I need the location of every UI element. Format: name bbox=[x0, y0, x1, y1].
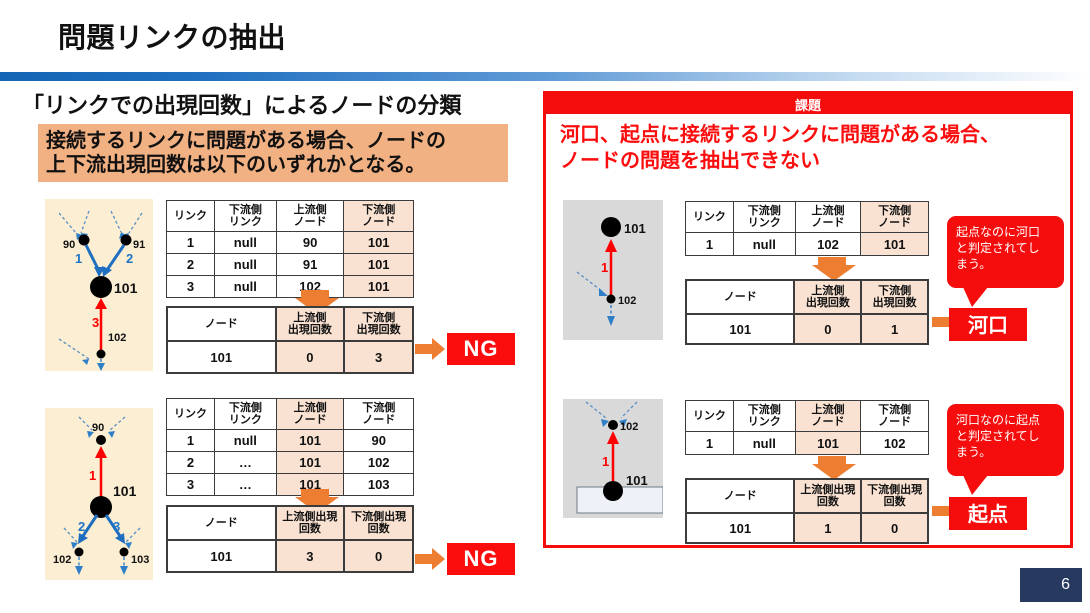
cell-ds-node: 102 bbox=[861, 432, 929, 455]
cell-node-id: 101 bbox=[167, 341, 276, 373]
table-row: 101 0 1 bbox=[686, 314, 928, 344]
cell-ds-link: … bbox=[214, 474, 276, 496]
th-node: ノード bbox=[686, 280, 794, 314]
svg-text:103: 103 bbox=[131, 554, 149, 566]
cell-ds-link: null bbox=[214, 232, 276, 254]
cell-ds-link: null bbox=[214, 254, 276, 276]
th-node: ノード bbox=[686, 479, 794, 513]
left-callout-line1: 接続するリンクに問題がある場合、ノードの bbox=[46, 129, 446, 153]
table-row: 1 null 101 90 bbox=[167, 430, 414, 452]
th-downstream-link: 下流側リンク bbox=[214, 399, 276, 430]
left-section-heading: 「リンクでの出現回数」によるノードの分類 bbox=[22, 88, 461, 120]
th-downstream-link: 下流側リンク bbox=[733, 401, 795, 432]
table-row: 101 0 3 bbox=[167, 341, 413, 373]
cell-us-count: 0 bbox=[276, 341, 345, 373]
bubble-line2: と判定されてし bbox=[956, 428, 1055, 444]
cell-link: 3 bbox=[167, 276, 215, 298]
cell-link: 1 bbox=[686, 432, 734, 455]
svg-text:102: 102 bbox=[53, 554, 71, 566]
svg-text:90: 90 bbox=[63, 239, 75, 251]
table-row: 101 1 0 bbox=[686, 513, 928, 543]
table-header-row: ノード 上流側出現回数 下流側出現回数 bbox=[167, 307, 413, 341]
cell-ds-node: 101 bbox=[861, 233, 929, 256]
left-case1-node-table: ノード 上流側出現回数 下流側出現回数 101 0 3 bbox=[166, 306, 414, 374]
th-upstream-count: 上流側出現回数 bbox=[276, 307, 345, 341]
th-upstream-node: 上流側ノード bbox=[795, 401, 861, 432]
cell-ds-node: 101 bbox=[344, 254, 414, 276]
left-callout-line2: 上下流出現回数は以下のいずれかとなる。 bbox=[46, 153, 446, 177]
bubble-line2: と判定されてし bbox=[956, 240, 1055, 256]
th-downstream-node: 下流側ノード bbox=[344, 201, 414, 232]
left-case1-ng-badge: NG bbox=[447, 333, 515, 365]
table-row: 2 … 101 102 bbox=[167, 452, 414, 474]
table-row: 1 null 101 102 bbox=[686, 432, 929, 455]
table-header-row: ノード 上流側出現回数 下流側出現回数 bbox=[686, 280, 928, 314]
left-case1-link-table: リンク 下流側リンク 上流側ノード 下流側ノード 1 null 90 101 2… bbox=[166, 200, 414, 298]
table-row: 3 … 101 103 bbox=[167, 474, 414, 496]
cell-ds-count: 3 bbox=[344, 341, 413, 373]
cell-link: 1 bbox=[686, 233, 734, 256]
cell-ds-link: null bbox=[733, 432, 795, 455]
svg-text:1: 1 bbox=[75, 251, 82, 266]
right-case1-bubble-tail bbox=[963, 287, 988, 307]
th-downstream-node: 下流側ノード bbox=[861, 401, 929, 432]
right-case2-tag-kiten: 起点 bbox=[949, 497, 1027, 530]
cell-us-node: 102 bbox=[795, 233, 861, 256]
th-downstream-node: 下流側ノード bbox=[344, 399, 414, 430]
right-case2-diagram: 102 1 101 bbox=[563, 399, 663, 518]
cell-ds-link: … bbox=[214, 452, 276, 474]
th-upstream-count: 上流側出現回数 bbox=[794, 280, 861, 314]
left-callout-box: 接続するリンクに問題がある場合、ノードの 上下流出現回数は以下のいずれかとなる。 bbox=[38, 124, 508, 182]
challenge-panel-header: 課題 bbox=[546, 94, 1070, 114]
bubble-line3: まう。 bbox=[956, 444, 1055, 460]
cell-ds-node: 90 bbox=[344, 430, 414, 452]
right-case2-link-table: リンク 下流側リンク 上流側ノード 下流側ノード 1 null 101 102 bbox=[685, 400, 929, 455]
cell-us-count: 1 bbox=[794, 513, 861, 543]
svg-text:1: 1 bbox=[601, 260, 608, 275]
table-header-row: リンク 下流側リンク 上流側ノード 下流側ノード bbox=[686, 202, 929, 233]
cell-ds-link: null bbox=[214, 276, 276, 298]
svg-text:102: 102 bbox=[620, 421, 638, 433]
cell-us-count: 0 bbox=[794, 314, 861, 344]
cell-node-id: 101 bbox=[686, 314, 794, 344]
page-number: 6 bbox=[1020, 568, 1082, 602]
th-upstream-node: 上流側ノード bbox=[276, 201, 344, 232]
table-row: 1 null 90 101 bbox=[167, 232, 414, 254]
right-case1-link-table: リンク 下流側リンク 上流側ノード 下流側ノード 1 null 102 101 bbox=[685, 201, 929, 256]
table-header-row: リンク 下流側リンク 上流側ノード 下流側ノード bbox=[167, 201, 414, 232]
challenge-text-line1: 河口、起点に接続するリンクに問題がある場合、 bbox=[560, 122, 1060, 148]
svg-text:102: 102 bbox=[108, 332, 126, 344]
cell-ds-node: 101 bbox=[344, 276, 414, 298]
th-node: ノード bbox=[167, 506, 276, 540]
page-title: 問題リンクの抽出 bbox=[58, 16, 286, 56]
th-downstream-node: 下流側ノード bbox=[861, 202, 929, 233]
th-link: リンク bbox=[167, 201, 215, 232]
cell-link: 1 bbox=[167, 430, 215, 452]
right-case1-node-table: ノード 上流側出現回数 下流側出現回数 101 0 1 bbox=[685, 279, 929, 345]
right-case2-bubble-tail bbox=[963, 475, 988, 495]
table-row: 101 3 0 bbox=[167, 540, 413, 572]
left-case1-result-arrow bbox=[415, 338, 445, 365]
th-link: リンク bbox=[686, 401, 734, 432]
th-downstream-link: 下流側リンク bbox=[214, 201, 276, 232]
left-case2-diagram: 90 1 101 2 3 102 103 bbox=[45, 408, 153, 580]
svg-text:3: 3 bbox=[113, 519, 120, 534]
cell-link: 1 bbox=[167, 232, 215, 254]
right-case2-bubble: 河口なのに起点 と判定されてし まう。 bbox=[947, 404, 1064, 476]
table-row: 1 null 102 101 bbox=[686, 233, 929, 256]
right-case1-tag-kakou: 河口 bbox=[949, 308, 1027, 341]
bubble-line1: 起点なのに河口 bbox=[956, 224, 1055, 240]
svg-text:101: 101 bbox=[113, 483, 137, 499]
svg-text:101: 101 bbox=[114, 280, 138, 296]
cell-us-node: 101 bbox=[276, 452, 344, 474]
th-downstream-count: 下流側出現回数 bbox=[344, 506, 413, 540]
title-divider-bar bbox=[0, 72, 1090, 81]
right-case2-node-table: ノード 上流側出現回数 下流側出現回数 101 1 0 bbox=[685, 478, 929, 544]
left-case2-result-arrow bbox=[415, 548, 445, 575]
challenge-text-line2: ノードの問題を抽出できない bbox=[560, 148, 1060, 174]
th-downstream-count: 下流側出現回数 bbox=[861, 280, 928, 314]
th-node: ノード bbox=[167, 307, 276, 341]
svg-text:1: 1 bbox=[89, 468, 96, 483]
th-upstream-node: 上流側ノード bbox=[276, 399, 344, 430]
cell-us-node: 91 bbox=[276, 254, 344, 276]
cell-ds-count: 1 bbox=[861, 314, 928, 344]
th-link: リンク bbox=[167, 399, 215, 430]
cell-us-node: 101 bbox=[795, 432, 861, 455]
table-row: 3 null 102 101 bbox=[167, 276, 414, 298]
svg-text:3: 3 bbox=[92, 315, 99, 330]
cell-ds-link: null bbox=[214, 430, 276, 452]
th-downstream-link: 下流側リンク bbox=[733, 202, 795, 233]
svg-text:2: 2 bbox=[78, 519, 85, 534]
left-case2-node-table: ノード 上流側出現回数 下流側出現回数 101 3 0 bbox=[166, 505, 414, 573]
table-row: 2 null 91 101 bbox=[167, 254, 414, 276]
cell-node-id: 101 bbox=[167, 540, 276, 572]
cell-us-node: 90 bbox=[276, 232, 344, 254]
th-upstream-node: 上流側ノード bbox=[795, 202, 861, 233]
svg-text:102: 102 bbox=[618, 295, 636, 307]
right-case1-diagram: 101 1 102 bbox=[563, 200, 663, 340]
cell-us-node: 101 bbox=[276, 430, 344, 452]
cell-node-id: 101 bbox=[686, 513, 794, 543]
cell-link: 2 bbox=[167, 254, 215, 276]
svg-text:2: 2 bbox=[126, 251, 133, 266]
left-case2-ng-badge: NG bbox=[447, 543, 515, 575]
cell-ds-count: 0 bbox=[344, 540, 413, 572]
table-header-row: ノード 上流側出現回数 下流側出現回数 bbox=[686, 479, 928, 513]
left-case2-link-table: リンク 下流側リンク 上流側ノード 下流側ノード 1 null 101 90 2… bbox=[166, 398, 414, 496]
cell-ds-node: 101 bbox=[344, 232, 414, 254]
svg-text:101: 101 bbox=[626, 473, 648, 488]
table-header-row: ノード 上流側出現回数 下流側出現回数 bbox=[167, 506, 413, 540]
cell-us-count: 3 bbox=[276, 540, 345, 572]
th-link: リンク bbox=[686, 202, 734, 233]
cell-ds-count: 0 bbox=[861, 513, 928, 543]
svg-text:91: 91 bbox=[133, 239, 145, 251]
th-upstream-count: 上流側出現回数 bbox=[794, 479, 861, 513]
th-downstream-count: 下流側出現回数 bbox=[861, 479, 928, 513]
svg-text:1: 1 bbox=[602, 454, 609, 469]
cell-link: 3 bbox=[167, 474, 215, 496]
cell-link: 2 bbox=[167, 452, 215, 474]
table-header-row: リンク 下流側リンク 上流側ノード 下流側ノード bbox=[686, 401, 929, 432]
svg-text:90: 90 bbox=[92, 422, 104, 434]
svg-text:101: 101 bbox=[624, 221, 646, 236]
bubble-line1: 河口なのに起点 bbox=[956, 412, 1055, 428]
right-case1-bubble: 起点なのに河口 と判定されてし まう。 bbox=[947, 216, 1064, 288]
th-downstream-count: 下流側出現回数 bbox=[344, 307, 413, 341]
table-header-row: リンク 下流側リンク 上流側ノード 下流側ノード bbox=[167, 399, 414, 430]
left-case1-diagram: 90 91 1 2 101 3 102 bbox=[45, 199, 153, 371]
challenge-panel-text: 河口、起点に接続するリンクに問題がある場合、 ノードの問題を抽出できない bbox=[560, 122, 1060, 175]
bubble-line3: まう。 bbox=[956, 256, 1055, 272]
th-upstream-count: 上流側出現回数 bbox=[276, 506, 345, 540]
cell-ds-node: 102 bbox=[344, 452, 414, 474]
cell-ds-node: 103 bbox=[344, 474, 414, 496]
cell-ds-link: null bbox=[733, 233, 795, 256]
